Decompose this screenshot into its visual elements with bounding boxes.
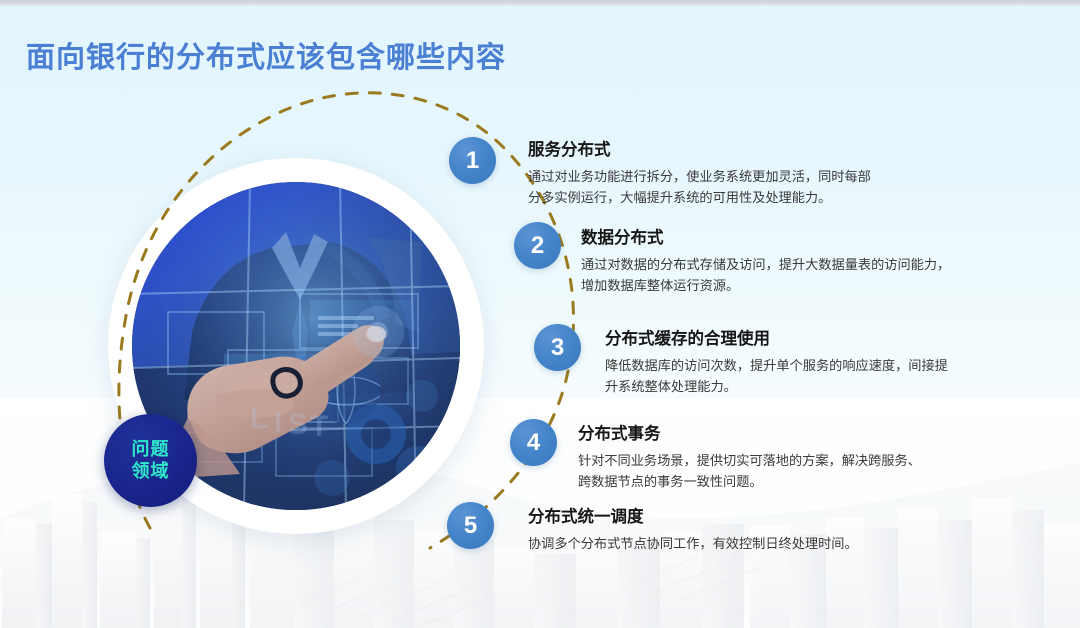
list-item-3: 分布式缓存的合理使用 降低数据库的访问次数，提升单个服务的响应速度，间接提 升系… (605, 330, 948, 398)
number-badge-3: 3 (534, 324, 581, 371)
list-item-4: 分布式事务 针对不同业务场景，提供切实可落地的方案，解决跨服务、 跨数据节点的事… (578, 425, 921, 493)
problem-domain-badge: 问题 领域 (104, 414, 197, 507)
item-body: 降低数据库的访问次数，提升单个服务的响应速度，间接提 升系统整体处理能力。 (605, 355, 948, 398)
list-item-1: 服务分布式 通过对业务功能进行拆分，使业务系统更加灵活，同时每部 分多实例运行，… (528, 141, 871, 209)
item-body: 针对不同业务场景，提供切实可落地的方案，解决跨服务、 跨数据节点的事务一致性问题… (578, 450, 921, 493)
problem-domain-line2: 领域 (132, 461, 170, 483)
item-title: 数据分布式 (581, 229, 950, 249)
problem-domain-line1: 问题 (132, 439, 170, 461)
slide-canvas: 面向银行的分布式应该包含哪些内容 (0, 0, 1080, 628)
list-item-5: 分布式统一调度 协调多个分布式节点协同工作，有效控制日终处理时间。 (528, 508, 858, 554)
item-body: 协调多个分布式节点协同工作，有效控制日终处理时间。 (528, 533, 858, 554)
item-title: 分布式事务 (578, 425, 921, 445)
item-title: 分布式统一调度 (528, 508, 858, 528)
number-badge-1: 1 (449, 137, 496, 184)
number-badge-5: 5 (447, 502, 494, 549)
list-item-2: 数据分布式 通过对数据的分布式存储及访问，提升大数据量表的访问能力， 增加数据库… (581, 229, 950, 297)
top-edge-strip (0, 0, 1080, 6)
number-badge-2: 2 (514, 222, 561, 269)
item-body: 通过对业务功能进行拆分，使业务系统更加灵活，同时每部 分多实例运行，大幅提升系统… (528, 166, 871, 209)
page-title: 面向银行的分布式应该包含哪些内容 (26, 34, 506, 76)
item-title: 服务分布式 (528, 141, 871, 161)
item-title: 分布式缓存的合理使用 (605, 330, 948, 350)
item-body: 通过对数据的分布式存储及访问，提升大数据量表的访问能力， 增加数据库整体运行资源… (581, 254, 950, 297)
number-badge-4: 4 (510, 419, 557, 466)
